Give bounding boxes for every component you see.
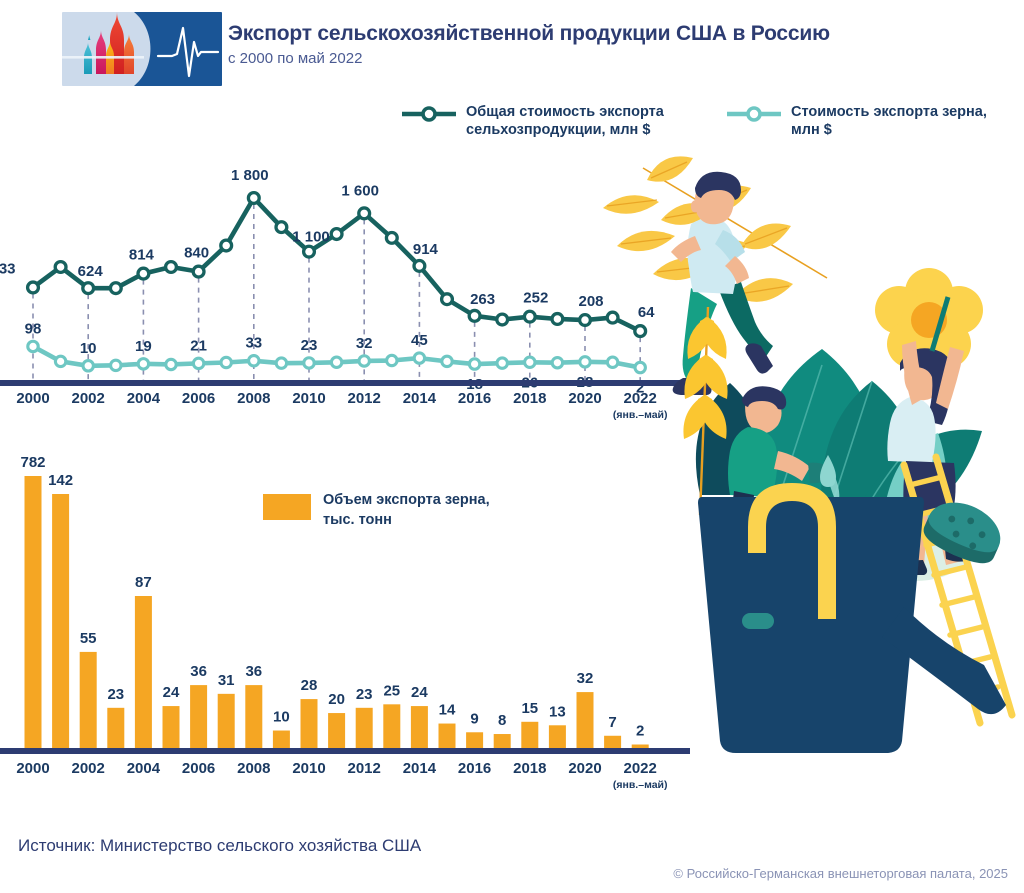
bar bbox=[494, 734, 511, 748]
line-chart-legend: Общая стоимость экспорта сельхозпродукци… bbox=[400, 92, 1020, 144]
bar-value-label: 13 bbox=[549, 703, 566, 720]
bar bbox=[273, 731, 290, 748]
x-axis-tick: 2010 bbox=[292, 760, 325, 777]
legend-label-grain-export: Стоимость экспорта зерна, млн $ bbox=[791, 103, 987, 139]
x-axis-tick: 2012 bbox=[348, 760, 381, 777]
x-axis-tick: 2000 bbox=[16, 760, 49, 777]
bar bbox=[80, 652, 97, 748]
bar-value-label: 23 bbox=[356, 686, 373, 703]
bar-value-label: 32 bbox=[577, 670, 594, 687]
bar bbox=[25, 476, 42, 748]
x-axis-tick: 2008 bbox=[237, 390, 270, 407]
line-value-label: 1 100 bbox=[292, 229, 330, 246]
bar bbox=[466, 732, 483, 748]
bar bbox=[383, 704, 400, 748]
line-value-label-grain: 23 bbox=[301, 337, 318, 354]
x-axis-tick: 2014 bbox=[403, 390, 437, 407]
x-axis-tick: 2014 bbox=[403, 760, 437, 777]
line-value-label-grain: 19 bbox=[135, 338, 152, 355]
bar bbox=[52, 494, 69, 748]
bar bbox=[301, 699, 318, 748]
x-axis-tick: 2000 bbox=[16, 390, 49, 407]
legend-marker-total-export bbox=[400, 106, 458, 122]
line-value-label: 624 bbox=[78, 263, 104, 280]
copyright-note: © Российско-Германская внешнеторговая па… bbox=[673, 866, 1008, 881]
bar bbox=[632, 745, 649, 748]
line-value-label-grain: 21 bbox=[190, 337, 207, 354]
x-axis-tick: 2004 bbox=[127, 760, 161, 777]
bar-value-label: 55 bbox=[80, 630, 97, 647]
line-value-label-grain: 98 bbox=[25, 320, 42, 337]
x-axis-tick: 2010 bbox=[292, 390, 325, 407]
x-axis-tick: 2012 bbox=[348, 390, 381, 407]
bar-value-label: 36 bbox=[245, 663, 262, 680]
bar bbox=[190, 685, 207, 748]
bar-value-label: 23 bbox=[107, 686, 124, 703]
bar bbox=[163, 706, 180, 748]
legend-label-total-export: Общая стоимость экспорта сельхозпродукци… bbox=[466, 103, 664, 139]
bar bbox=[439, 724, 456, 748]
line-value-label: 252 bbox=[523, 290, 548, 307]
x-axis-tick: 2004 bbox=[127, 390, 161, 407]
bar bbox=[577, 692, 594, 748]
bar-value-label: 24 bbox=[163, 684, 180, 701]
x-axis-tick: 2016 bbox=[458, 760, 491, 777]
bar-value-label: 2 bbox=[636, 723, 644, 740]
bar-value-label: 142 bbox=[48, 472, 73, 489]
bar bbox=[218, 694, 235, 748]
line-value-label: 840 bbox=[184, 245, 209, 262]
watering-can-gardeners-illustration bbox=[660, 285, 1024, 760]
bar-value-label: 14 bbox=[439, 702, 456, 719]
header: Экспорт сельскохозяйственной продукции С… bbox=[0, 0, 1024, 92]
x-axis-tick: 2008 bbox=[237, 760, 270, 777]
line-value-label: 914 bbox=[413, 241, 439, 258]
rgchamber-logo bbox=[62, 12, 222, 86]
bar-value-label: 20 bbox=[328, 691, 345, 708]
bar-value-label: 31 bbox=[218, 672, 235, 689]
x-axis-tick-note: (янв.–май) bbox=[613, 779, 668, 791]
bar bbox=[135, 596, 152, 748]
x-axis-tick: 2002 bbox=[72, 390, 105, 407]
line-value-label: 814 bbox=[129, 247, 155, 264]
line-value-label: 633 bbox=[0, 260, 16, 277]
bar-value-label: 782 bbox=[20, 454, 45, 471]
bar bbox=[521, 722, 538, 748]
page-subtitle: с 2000 по май 2022 bbox=[228, 50, 362, 67]
bar-value-label: 15 bbox=[521, 700, 538, 717]
bar-value-label: 7 bbox=[608, 714, 616, 731]
bar bbox=[356, 708, 373, 748]
bar bbox=[328, 713, 345, 748]
x-axis-tick: 2016 bbox=[458, 390, 491, 407]
bar-value-label: 36 bbox=[190, 663, 207, 680]
x-axis-tick: 2022 bbox=[624, 760, 657, 777]
bar-value-label: 9 bbox=[470, 710, 478, 727]
bar bbox=[107, 708, 124, 748]
bar-value-label: 87 bbox=[135, 574, 152, 591]
bar-value-label: 25 bbox=[383, 682, 400, 699]
page-title: Экспорт сельскохозяйственной продукции С… bbox=[228, 22, 830, 46]
bar-value-label: 24 bbox=[411, 684, 428, 701]
bar bbox=[411, 706, 428, 748]
line-value-label: 263 bbox=[470, 291, 495, 308]
line-value-label-grain: 33 bbox=[245, 335, 262, 352]
bar bbox=[549, 725, 566, 748]
line-value-label: 1 800 bbox=[231, 167, 269, 184]
line-value-label-grain: 10 bbox=[80, 340, 97, 357]
line-value-label: 1 600 bbox=[341, 182, 379, 199]
bar bbox=[245, 685, 262, 748]
bar-value-label: 8 bbox=[498, 712, 506, 729]
bar bbox=[604, 736, 621, 748]
x-axis-tick: 2020 bbox=[568, 760, 601, 777]
x-axis-tick: 2006 bbox=[182, 390, 215, 407]
x-axis-tick: 2006 bbox=[182, 760, 215, 777]
source-note: Источник: Министерство сельского хозяйст… bbox=[18, 836, 421, 856]
line-value-label-grain: 32 bbox=[356, 335, 373, 352]
bar-value-label: 10 bbox=[273, 709, 290, 726]
legend-marker-grain-export bbox=[725, 106, 783, 122]
x-axis-tick: 2018 bbox=[513, 760, 546, 777]
bar-value-label: 28 bbox=[301, 677, 318, 694]
x-axis-tick: 2018 bbox=[513, 390, 546, 407]
x-axis-tick: 2002 bbox=[72, 760, 105, 777]
line-value-label-grain: 45 bbox=[411, 332, 428, 349]
bar-chart-grain-volume: 7821425523872436313610282023252414981513… bbox=[0, 448, 700, 808]
